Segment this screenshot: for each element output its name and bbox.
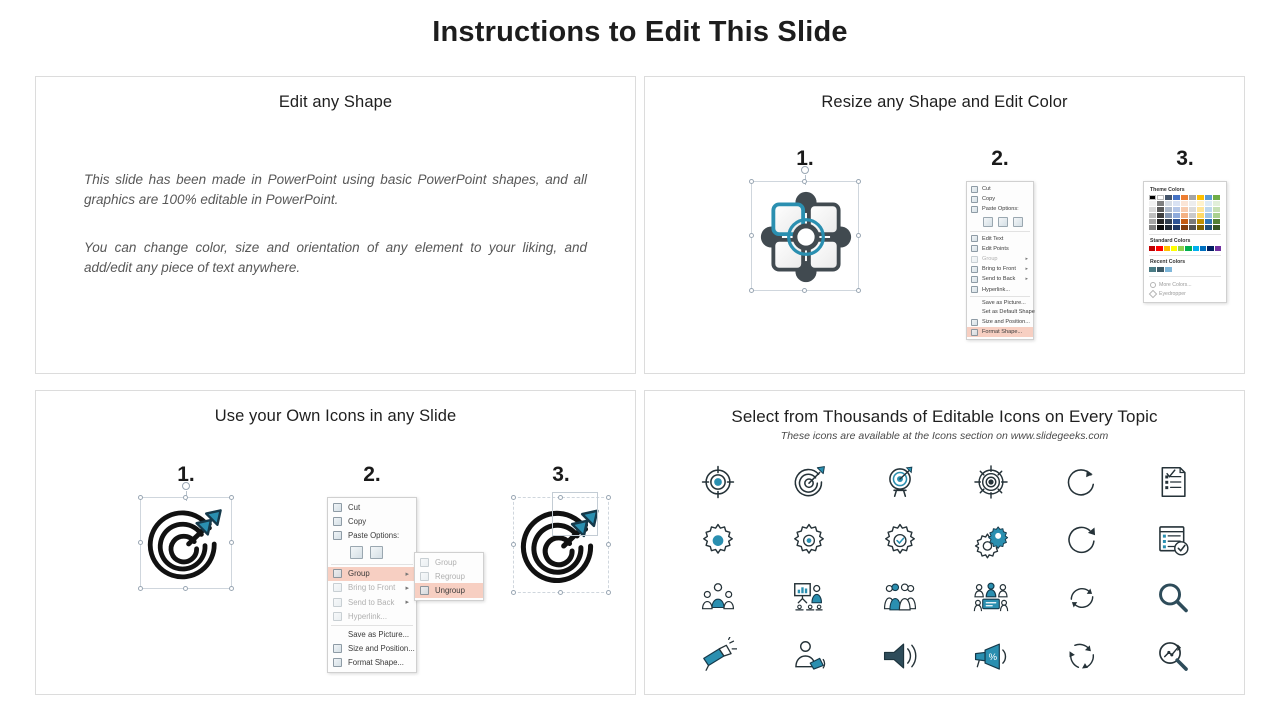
slide-canvas: Instructions to Edit This Slide Edit any… <box>0 0 1280 720</box>
swatch-theme-8[interactable] <box>1205 195 1212 200</box>
sw[interactable] <box>1149 207 1156 212</box>
chevron-right-icon: ▸ <box>405 598 409 606</box>
group-icon <box>971 256 978 263</box>
icon-megaphone-percent[interactable]: % <box>968 633 1014 679</box>
resize-handle-ne[interactable] <box>606 495 611 500</box>
grouped-target-icon[interactable] <box>96 497 276 589</box>
context-menu-item-format-shape[interactable]: Format Shape... <box>967 327 1033 337</box>
resize-handle-n[interactable] <box>802 179 807 184</box>
resize-handle-se[interactable] <box>856 288 861 293</box>
icon-gears-pair[interactable] <box>968 517 1014 563</box>
paste-keep-text-icon[interactable] <box>1013 217 1023 227</box>
context-menu-item-paste-options[interactable]: Paste Options: <box>967 204 1033 214</box>
context-menu-item-copy[interactable]: Copy <box>328 514 416 528</box>
svg-text:%: % <box>989 652 998 663</box>
sw[interactable] <box>1205 201 1212 206</box>
paste-picture-icon[interactable] <box>370 546 383 559</box>
variation-col <box>1213 201 1220 230</box>
menu-divider <box>970 231 1030 232</box>
variation-col <box>1189 201 1196 230</box>
sw[interactable] <box>1173 219 1180 224</box>
step-number: 3. <box>471 463 651 487</box>
menu-label: Regroup <box>435 572 465 581</box>
menu-divider <box>331 625 413 626</box>
standard-colors-row <box>1149 246 1221 251</box>
sw[interactable] <box>1173 207 1180 212</box>
paste-picture-icon[interactable] <box>998 217 1008 227</box>
own-icons-step-2: 2. Cut Copy Paste Options: Group▸ Bring … <box>282 463 462 673</box>
menu-label: Edit Points <box>982 246 1009 252</box>
panel-resize-shape-edit-color: Resize any Shape and Edit Color 1. <box>644 76 1245 374</box>
sw[interactable] <box>1181 201 1188 206</box>
swatch-theme-4[interactable] <box>1173 195 1180 200</box>
panel-title-resize-shape: Resize any Shape and Edit Color <box>645 93 1244 112</box>
swatch-theme-5[interactable] <box>1181 195 1188 200</box>
more-colors-label: More Colors... <box>1159 282 1192 288</box>
sw[interactable] <box>1213 219 1220 224</box>
send-back-icon <box>333 598 342 607</box>
menu-label: Group <box>435 558 457 567</box>
menu-label: Group <box>982 256 998 262</box>
icon-gear-filled[interactable] <box>695 517 741 563</box>
context-menu-item-size-and-position[interactable]: Size and Position... <box>328 642 416 656</box>
icon-refresh-counter[interactable] <box>1059 517 1105 563</box>
swatch-std-1[interactable] <box>1149 246 1155 251</box>
sw[interactable] <box>1213 207 1220 212</box>
swatch-theme-3[interactable] <box>1165 195 1172 200</box>
resize-handle-e[interactable] <box>856 233 861 238</box>
context-menu-item-cut[interactable]: Cut <box>328 500 416 514</box>
rotate-handle[interactable] <box>801 166 809 174</box>
variation-col <box>1173 201 1180 230</box>
context-menu-item-send-to-back[interactable]: Send to Back▸ <box>967 274 1033 284</box>
ungroup-icon <box>420 586 429 595</box>
context-menu-item-save-as-picture[interactable]: Save as Picture... <box>967 299 1033 308</box>
variation-col <box>1157 201 1164 230</box>
color-palette-popup[interactable]: Theme Colors <box>1143 181 1227 303</box>
scissors-icon <box>971 186 978 193</box>
hyperlink-icon <box>971 286 978 293</box>
resize-step-1: 1. <box>715 147 895 291</box>
menu-divider <box>970 296 1030 297</box>
eyedropper-label: Eyedropper <box>1159 291 1186 297</box>
resize-handle-nw[interactable] <box>749 179 754 184</box>
menu-label: Save as Picture... <box>348 630 409 639</box>
sw[interactable] <box>1197 207 1204 212</box>
own-icons-step-1: 1. <box>96 463 276 589</box>
resize-handle-nw[interactable] <box>138 495 143 500</box>
paste-keep-formatting-icon[interactable] <box>350 546 363 559</box>
swatch-std-9[interactable] <box>1207 246 1213 251</box>
sw[interactable] <box>1165 225 1172 230</box>
icon-presentation-team[interactable] <box>786 575 832 621</box>
sw[interactable] <box>1173 225 1180 230</box>
resize-step-2: 2. Cut Copy Paste Options: Edit Text Edi… <box>910 147 1090 340</box>
own-icons-step-3: 3. <box>471 463 651 593</box>
edit-shape-paragraph-2: You can change color, size and orientati… <box>84 238 587 278</box>
panel-editable-icons: Select from Thousands of Editable Icons … <box>644 390 1245 695</box>
sw[interactable] <box>1189 207 1196 212</box>
size-position-icon <box>971 319 978 326</box>
variation-col <box>1149 201 1156 230</box>
menu-label: Hyperlink... <box>982 287 1010 293</box>
sw[interactable] <box>1205 219 1212 224</box>
sw[interactable] <box>1149 201 1156 206</box>
icon-target-easel[interactable] <box>877 459 923 505</box>
menu-label: Size and Position... <box>982 319 1030 325</box>
sw[interactable] <box>1157 213 1164 218</box>
menu-divider <box>331 564 413 565</box>
size-position-icon <box>333 644 342 653</box>
menu-label: Paste Options: <box>982 206 1019 212</box>
swatch-std-3[interactable] <box>1164 246 1170 251</box>
icon-gallery-grid: % <box>673 459 1218 679</box>
icon-target-crosshair-ring[interactable] <box>968 459 1014 505</box>
swatch-std-8[interactable] <box>1200 246 1206 251</box>
selected-shape-graphic[interactable] <box>715 181 895 291</box>
swatch-std-5[interactable] <box>1178 246 1184 251</box>
group-icon <box>333 569 342 578</box>
resize-handle-nw[interactable] <box>511 495 516 500</box>
sw[interactable] <box>1205 225 1212 230</box>
icon-refresh-clockwise[interactable] <box>1059 459 1105 505</box>
chevron-right-icon: ▸ <box>405 584 409 592</box>
palette-divider <box>1149 276 1221 277</box>
four-square-target-shape <box>758 188 854 286</box>
menu-label: Send to Back <box>982 276 1015 282</box>
sw[interactable] <box>1157 201 1164 206</box>
menu-label: Cut <box>982 186 991 192</box>
icon-megaphone[interactable] <box>695 633 741 679</box>
theme-colors-label: Theme Colors <box>1150 187 1221 193</box>
menu-label: Format Shape... <box>982 329 1022 335</box>
clipboard-icon <box>971 206 978 213</box>
sw[interactable] <box>1165 201 1172 206</box>
resize-handle-e[interactable] <box>229 540 234 545</box>
sw[interactable] <box>1157 225 1164 230</box>
panel-title-own-icons: Use your Own Icons in any Slide <box>36 407 635 426</box>
panel-subtitle-editable-icons: These icons are available at the Icons s… <box>645 430 1244 442</box>
page-title: Instructions to Edit This Slide <box>0 16 1280 49</box>
sw[interactable] <box>1197 201 1204 206</box>
icon-person-megaphone[interactable] <box>786 633 832 679</box>
sw[interactable] <box>1165 213 1172 218</box>
icon-group-people[interactable] <box>877 575 923 621</box>
sw[interactable] <box>1189 225 1196 230</box>
theme-colors-row <box>1149 195 1221 200</box>
context-menu-item-edit-text[interactable]: Edit Text <box>967 234 1033 244</box>
menu-label: Edit Text <box>982 236 1003 242</box>
regroup-icon <box>420 572 429 581</box>
step-number: 3. <box>1095 147 1275 171</box>
resize-handle-s[interactable] <box>558 590 563 595</box>
menu-label: Copy <box>982 196 995 202</box>
icon-team-leader[interactable] <box>695 575 741 621</box>
sw[interactable] <box>1157 219 1164 224</box>
swatch-recent-1[interactable] <box>1149 267 1156 272</box>
resize-handle-sw[interactable] <box>511 590 516 595</box>
sw[interactable] <box>1149 213 1156 218</box>
context-menu-item-group[interactable]: Group▸ <box>967 254 1033 264</box>
format-shape-icon <box>971 329 978 336</box>
chevron-right-icon: ▸ <box>405 570 409 578</box>
sw[interactable] <box>1149 225 1156 230</box>
resize-handle-s[interactable] <box>183 586 188 591</box>
icon-target-crosshair-filled[interactable] <box>695 459 741 505</box>
context-menu-item-copy[interactable]: Copy <box>967 194 1033 204</box>
swatch-recent-3[interactable] <box>1165 267 1172 272</box>
resize-step-3: 3. Theme Colors <box>1095 147 1275 303</box>
chevron-right-icon: ▸ <box>1025 276 1028 282</box>
panel-edit-any-shape: Edit any Shape This slide has been made … <box>35 76 636 374</box>
menu-label: Paste Options: <box>348 531 399 540</box>
menu-label: Set as Default Shape <box>982 309 1035 315</box>
menu-label: Ungroup <box>435 586 465 595</box>
group-icon <box>420 558 429 567</box>
sw[interactable] <box>1189 213 1196 218</box>
sw[interactable] <box>1165 207 1172 212</box>
paste-option-buttons <box>328 543 416 563</box>
sw[interactable] <box>1197 219 1204 224</box>
rotate-handle[interactable] <box>182 482 190 490</box>
paste-option-buttons <box>967 215 1033 230</box>
sw[interactable] <box>1197 213 1204 218</box>
copy-icon <box>971 196 978 203</box>
icon-target-dart[interactable] <box>786 459 832 505</box>
menu-label: Send to Back <box>348 598 394 607</box>
variation-col <box>1197 201 1204 230</box>
context-menu-item-send-to-back[interactable]: Send to Back▸ <box>328 595 416 609</box>
resize-handle-se[interactable] <box>606 590 611 595</box>
swatch-std-6[interactable] <box>1185 246 1191 251</box>
menu-label: Bring to Front <box>982 266 1016 272</box>
menu-label: Size and Position... <box>348 644 415 653</box>
sw[interactable] <box>1213 225 1220 230</box>
format-shape-icon <box>333 658 342 667</box>
sub-selection-box[interactable] <box>552 492 598 536</box>
swatch-theme-2[interactable] <box>1157 195 1164 200</box>
resize-handle-sw[interactable] <box>138 586 143 591</box>
sw[interactable] <box>1205 207 1212 212</box>
menu-label: Group <box>348 569 370 578</box>
sw[interactable] <box>1213 201 1220 206</box>
menu-label: Save as Picture... <box>982 300 1026 306</box>
sw[interactable] <box>1181 225 1188 230</box>
variation-col <box>1165 201 1172 230</box>
eyedropper-icon <box>1149 289 1157 297</box>
icon-magnifier[interactable] <box>1150 575 1196 621</box>
edit-points-icon <box>971 245 978 252</box>
swatch-std-2[interactable] <box>1156 246 1162 251</box>
panel-title-edit-shape: Edit any Shape <box>36 93 635 112</box>
sw[interactable] <box>1149 219 1156 224</box>
copy-icon <box>333 517 342 526</box>
menu-label: Bring to Front <box>348 583 395 592</box>
recent-colors-label: Recent Colors <box>1150 259 1221 265</box>
swatch-recent-2[interactable] <box>1157 267 1164 272</box>
context-menu-item-bring-to-front[interactable]: Bring to Front▸ <box>967 264 1033 274</box>
menu-label: Format Shape... <box>348 658 404 667</box>
menu-label: Cut <box>348 503 360 512</box>
chevron-right-icon: ▸ <box>1025 266 1028 272</box>
palette-divider <box>1149 255 1221 256</box>
swatch-theme-9[interactable] <box>1213 195 1220 200</box>
sw[interactable] <box>1157 207 1164 212</box>
swatch-theme-1[interactable] <box>1149 195 1156 200</box>
swatch-std-10[interactable] <box>1215 246 1221 251</box>
eyedropper-button[interactable]: Eyedropper <box>1149 289 1221 298</box>
icon-loudspeaker[interactable] <box>877 633 923 679</box>
resize-handle-n[interactable] <box>183 495 188 500</box>
sw[interactable] <box>1173 201 1180 206</box>
context-menu-item-hyperlink[interactable]: Hyperlink... <box>967 285 1033 295</box>
resize-handle-sw[interactable] <box>749 288 754 293</box>
resize-handle-w[interactable] <box>511 542 516 547</box>
clipboard-icon <box>333 531 342 540</box>
swatch-theme-7[interactable] <box>1197 195 1204 200</box>
menu-label: Hyperlink... <box>348 612 387 621</box>
shape-context-menu[interactable]: Cut Copy Paste Options: Edit Text Edit P… <box>966 181 1034 340</box>
edit-text-icon <box>971 235 978 242</box>
panel-use-own-icons: Use your Own Icons in any Slide 1. <box>35 390 636 695</box>
resize-handle-e[interactable] <box>606 542 611 547</box>
swatch-std-7[interactable] <box>1193 246 1199 251</box>
variation-col <box>1181 201 1188 230</box>
resize-handle-ne[interactable] <box>856 179 861 184</box>
standard-colors-label: Standard Colors <box>1150 238 1221 244</box>
group-context-menu[interactable]: Cut Copy Paste Options: Group▸ Bring to … <box>327 497 417 673</box>
swatch-theme-6[interactable] <box>1189 195 1196 200</box>
resize-handle-s[interactable] <box>802 288 807 293</box>
panel-title-editable-icons: Select from Thousands of Editable Icons … <box>645 407 1244 427</box>
icon-checklist-approved[interactable] <box>1150 517 1196 563</box>
context-menu-item-paste-options[interactable]: Paste Options: <box>328 528 416 542</box>
menu-label: Copy <box>348 517 366 526</box>
send-back-icon <box>971 276 978 283</box>
swatch-std-4[interactable] <box>1171 246 1177 251</box>
context-menu-item-size-and-position[interactable]: Size and Position... <box>967 317 1033 327</box>
bring-front-icon <box>333 583 342 592</box>
chevron-right-icon: ▸ <box>1025 256 1028 262</box>
sw[interactable] <box>1181 219 1188 224</box>
sw[interactable] <box>1181 213 1188 218</box>
icon-checklist-document[interactable] <box>1150 459 1196 505</box>
sw[interactable] <box>1189 201 1196 206</box>
hyperlink-icon <box>333 612 342 621</box>
sw[interactable] <box>1205 213 1212 218</box>
icon-gear-dot[interactable] <box>786 517 832 563</box>
sw[interactable] <box>1181 207 1188 212</box>
context-menu-item-group[interactable]: Group▸ <box>328 567 416 581</box>
icon-magnifier-analytics[interactable] <box>1150 633 1196 679</box>
recent-colors-row <box>1149 267 1221 272</box>
icon-team-meeting[interactable] <box>968 575 1014 621</box>
color-wheel-icon <box>1150 282 1156 288</box>
ungrouped-target-icon[interactable] <box>471 497 651 593</box>
step-number: 2. <box>910 147 1090 171</box>
more-colors-button[interactable]: More Colors... <box>1149 280 1221 289</box>
context-menu-item-bring-to-front[interactable]: Bring to Front▸ <box>328 581 416 595</box>
context-menu-item-format-shape[interactable]: Format Shape... <box>328 656 416 670</box>
paste-keep-formatting-icon[interactable] <box>983 217 993 227</box>
sw[interactable] <box>1197 225 1204 230</box>
context-menu-item-cut[interactable]: Cut <box>967 184 1033 194</box>
bring-front-icon <box>971 266 978 273</box>
sw[interactable] <box>1213 213 1220 218</box>
context-menu-item-set-as-default-shape[interactable]: Set as Default Shape <box>967 308 1033 317</box>
resize-handle-w[interactable] <box>138 540 143 545</box>
step-number: 2. <box>282 463 462 487</box>
theme-color-variations <box>1149 201 1221 230</box>
sw[interactable] <box>1165 219 1172 224</box>
scissors-icon <box>333 503 342 512</box>
icon-gear-check[interactable] <box>877 517 923 563</box>
palette-divider <box>1149 234 1221 235</box>
icon-sync-arrows[interactable] <box>1059 575 1105 621</box>
resize-handle-se[interactable] <box>229 586 234 591</box>
resize-handle-w[interactable] <box>749 233 754 238</box>
context-menu-item-hyperlink[interactable]: Hyperlink... <box>328 609 416 623</box>
icon-sync-three-arrows[interactable] <box>1059 633 1105 679</box>
context-menu-item-save-as-picture[interactable]: Save as Picture... <box>328 627 416 641</box>
target-dart-graphic <box>147 504 227 584</box>
edit-shape-paragraph-1: This slide has been made in PowerPoint u… <box>84 170 587 210</box>
variation-col <box>1205 201 1212 230</box>
resize-handle-ne[interactable] <box>229 495 234 500</box>
context-menu-item-edit-points[interactable]: Edit Points <box>967 244 1033 254</box>
sw[interactable] <box>1173 213 1180 218</box>
sw[interactable] <box>1189 219 1196 224</box>
